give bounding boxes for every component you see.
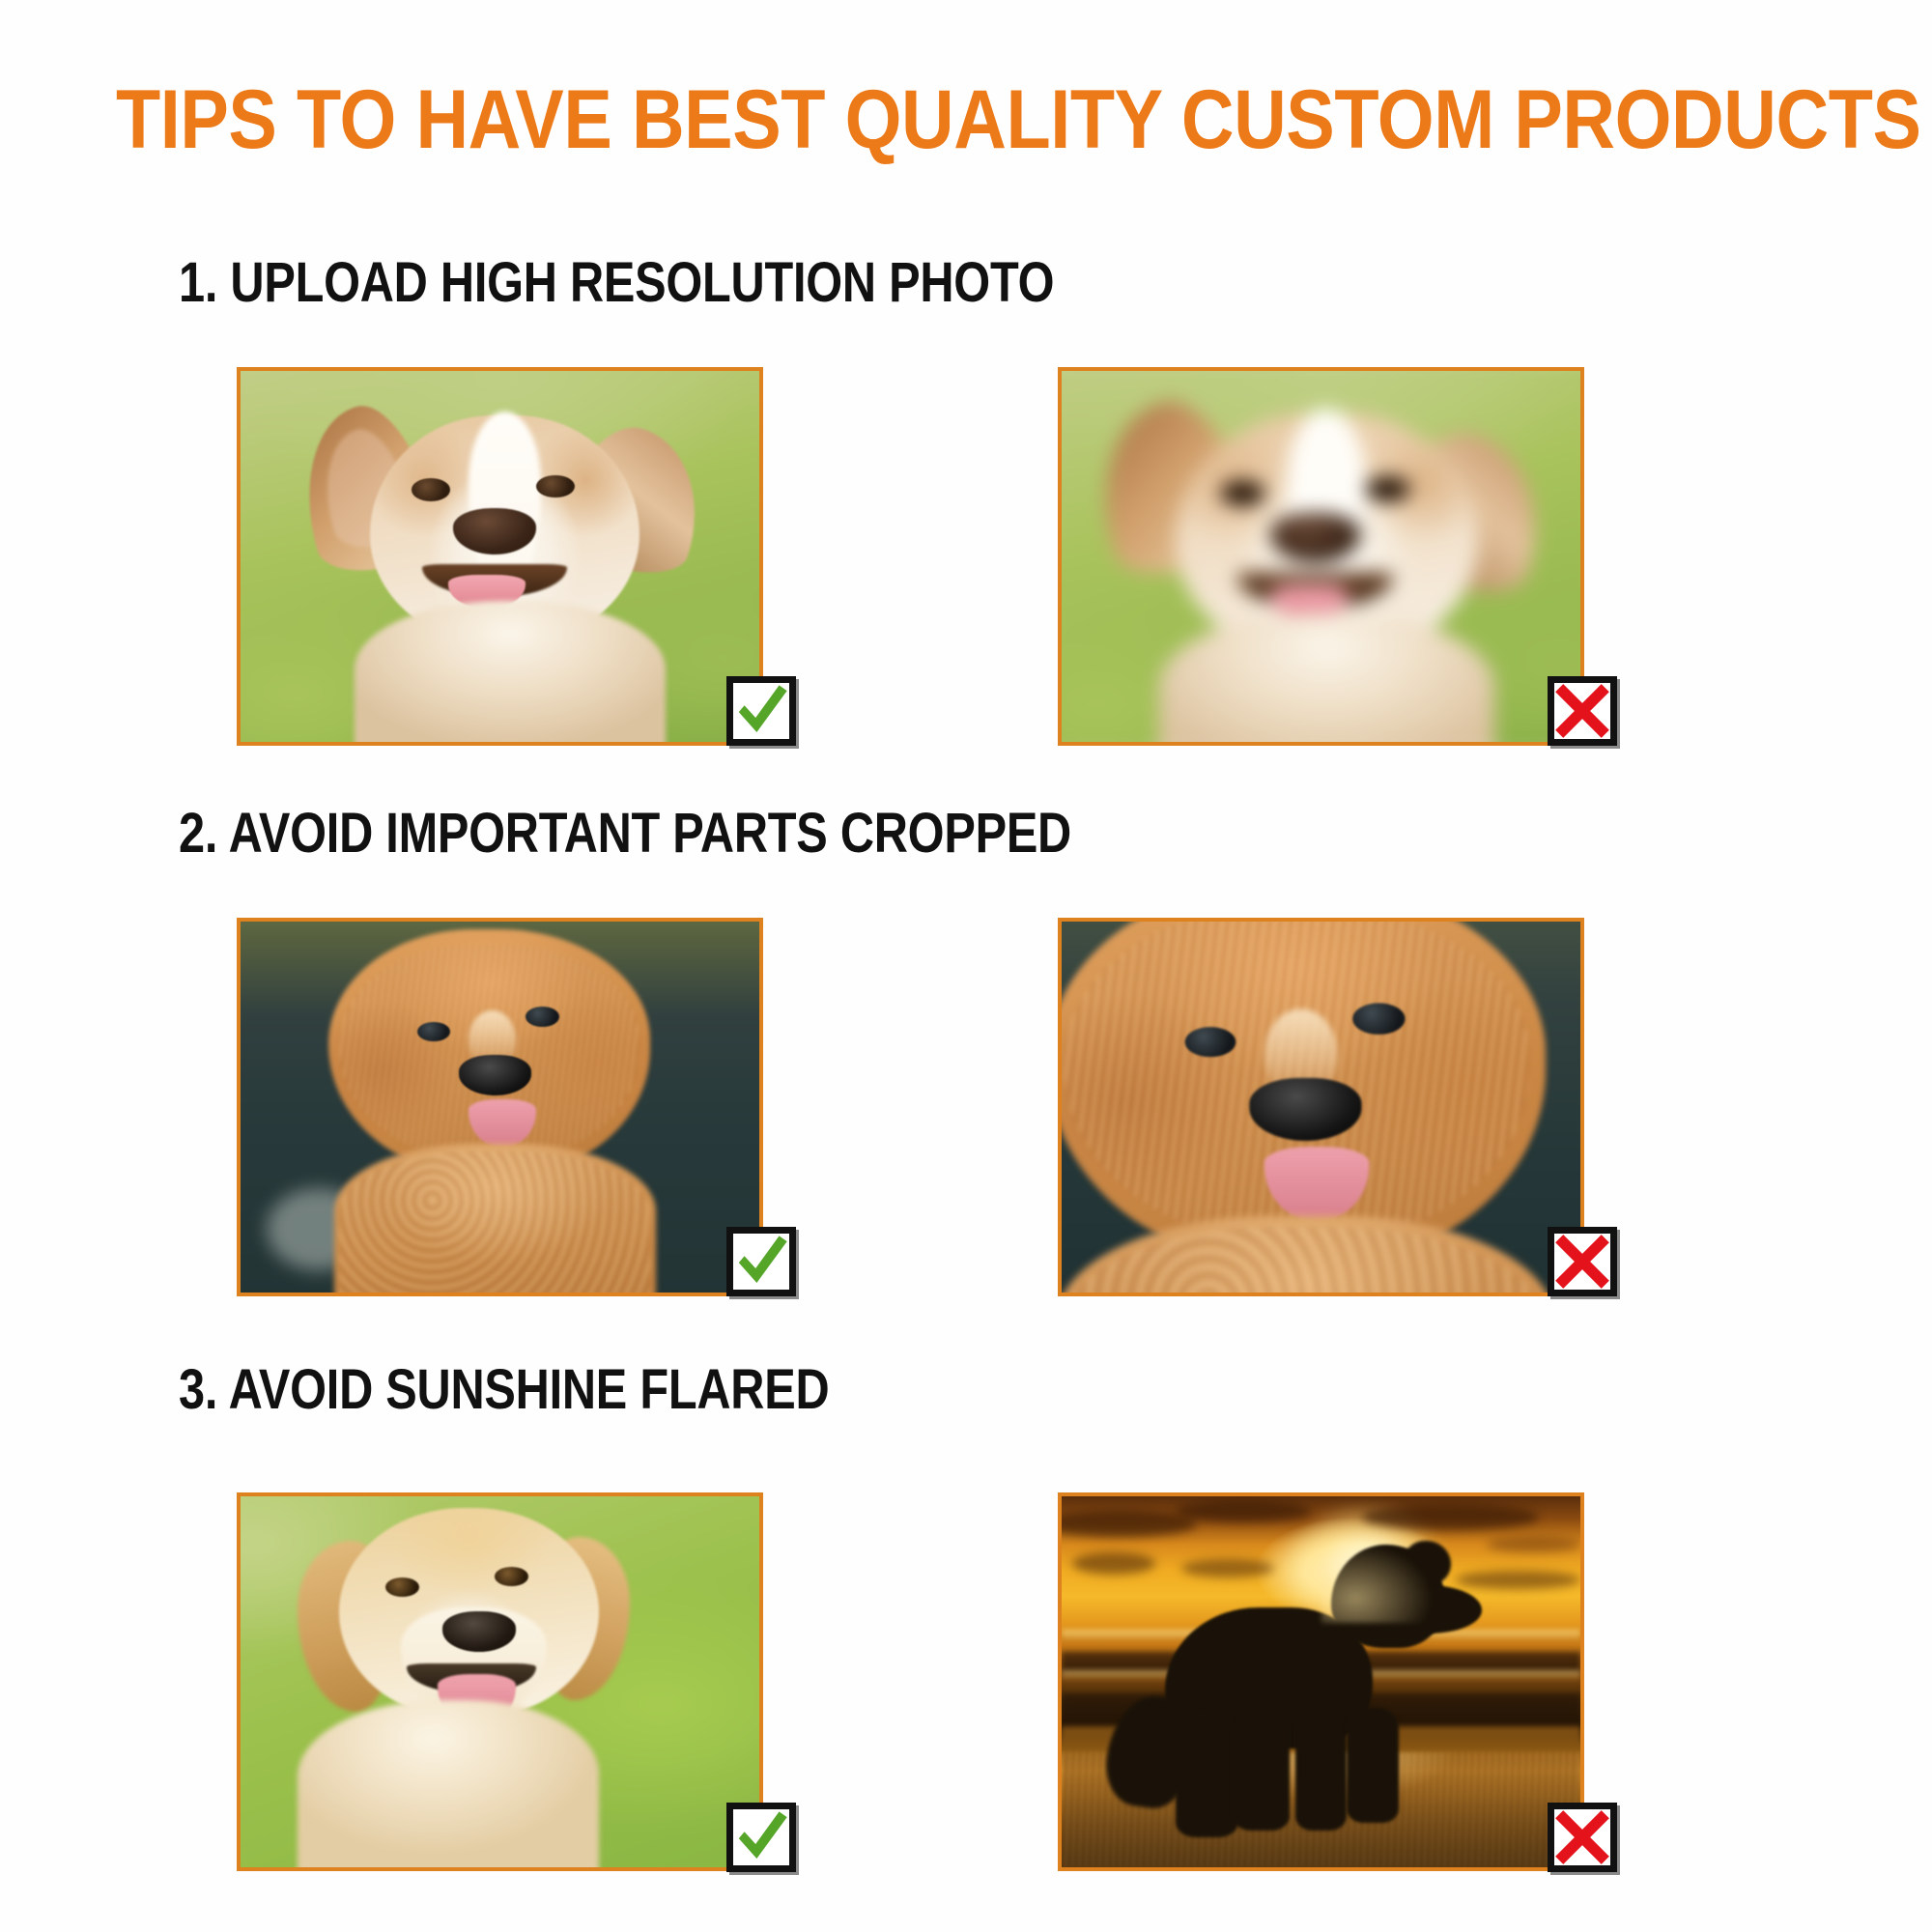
photo-cavapoo-full: [241, 922, 759, 1293]
photo-corgi-blurry: [1058, 367, 1584, 746]
photo-frame-2-good: [237, 918, 763, 1296]
photo-frame-1-bad: [1058, 367, 1584, 746]
section-heading-3: 3. AVOID SUNSHINE FLARED: [179, 1360, 829, 1420]
cross-mark-box-1: [1548, 676, 1617, 746]
photo-corgi-sharp: [241, 371, 759, 742]
cross-icon: [1554, 1234, 1610, 1290]
photo-cavapoo-cropped: [1062, 922, 1580, 1293]
check-icon: [733, 1809, 789, 1865]
check-mark-box-3: [726, 1803, 796, 1872]
photo-frame-2-bad: [1058, 918, 1584, 1296]
cross-icon: [1554, 1809, 1610, 1865]
photo-frame-1-good: [237, 367, 763, 746]
cross-icon: [1554, 683, 1610, 739]
page-title: TIPS TO HAVE BEST QUALITY CUSTOM PRODUCT…: [116, 75, 1816, 164]
photo-frame-3-bad: [1058, 1492, 1584, 1871]
cross-mark-box-3: [1548, 1803, 1617, 1872]
check-icon: [733, 1234, 789, 1290]
section-heading-2: 2. AVOID IMPORTANT PARTS CROPPED: [179, 804, 1071, 864]
check-mark-box-1: [726, 676, 796, 746]
check-icon: [733, 683, 789, 739]
photo-frame-3-good: [237, 1492, 763, 1871]
section-heading-1: 1. UPLOAD HIGH RESOLUTION PHOTO: [179, 253, 1054, 313]
photo-golden-retriever: [241, 1496, 759, 1867]
check-mark-box-2: [726, 1227, 796, 1296]
photo-sunset-silhouette: [1062, 1496, 1580, 1867]
cross-mark-box-2: [1548, 1227, 1617, 1296]
infographic-page: TIPS TO HAVE BEST QUALITY CUSTOM PRODUCT…: [0, 0, 1932, 1932]
